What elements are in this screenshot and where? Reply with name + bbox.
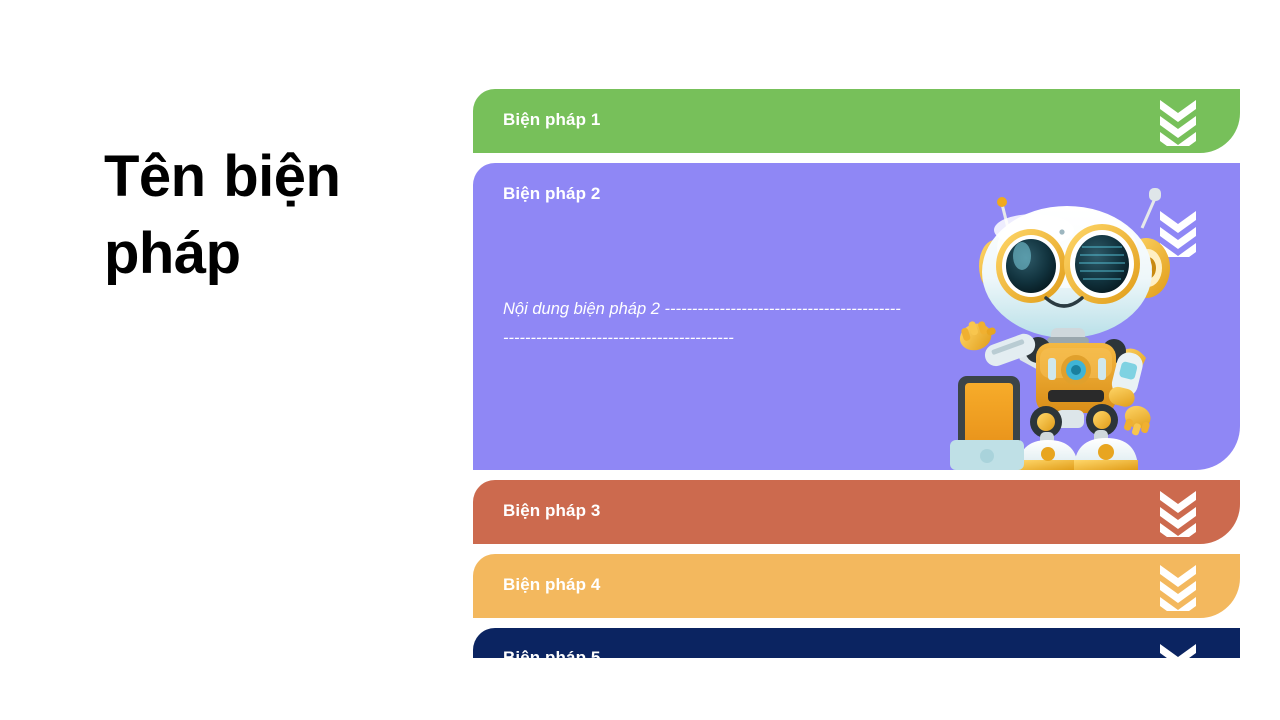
accordion-card-5-title: Biện pháp 5 (503, 648, 600, 658)
accordion-card-4-title: Biện pháp 4 (503, 575, 600, 595)
chevron-double-down-icon[interactable] (1156, 487, 1200, 537)
accordion-card-5[interactable]: Biện pháp 5 (473, 628, 1240, 658)
chevron-double-down-icon[interactable] (1156, 207, 1200, 257)
chevron-double-down-icon[interactable] (1156, 561, 1200, 611)
accordion-card-2[interactable]: Biện pháp 2 Nội dung biện pháp 2 -------… (473, 163, 1240, 470)
accordion-card-3-title: Biện pháp 3 (503, 501, 600, 521)
slide-canvas: Tên biện pháp Biện pháp 1 Biện pháp 2 Nộ… (0, 0, 1280, 720)
chevron-double-down-icon[interactable] (1156, 640, 1200, 658)
accordion-card-3[interactable]: Biện pháp 3 (473, 480, 1240, 544)
accordion-card-1[interactable]: Biện pháp 1 (473, 89, 1240, 153)
title-block: Tên biện pháp (104, 138, 404, 292)
accordion-card-4[interactable]: Biện pháp 4 (473, 554, 1240, 618)
page-title: Tên biện pháp (104, 138, 404, 292)
chevron-double-down-icon[interactable] (1156, 96, 1200, 146)
accordion-card-2-title: Biện pháp 2 (503, 184, 600, 204)
accordion-card-1-title: Biện pháp 1 (503, 110, 600, 130)
accordion-list: Biện pháp 1 Biện pháp 2 Nội dung biện ph… (473, 89, 1240, 658)
accordion-card-2-body: Nội dung biện pháp 2 -------------------… (503, 295, 903, 354)
